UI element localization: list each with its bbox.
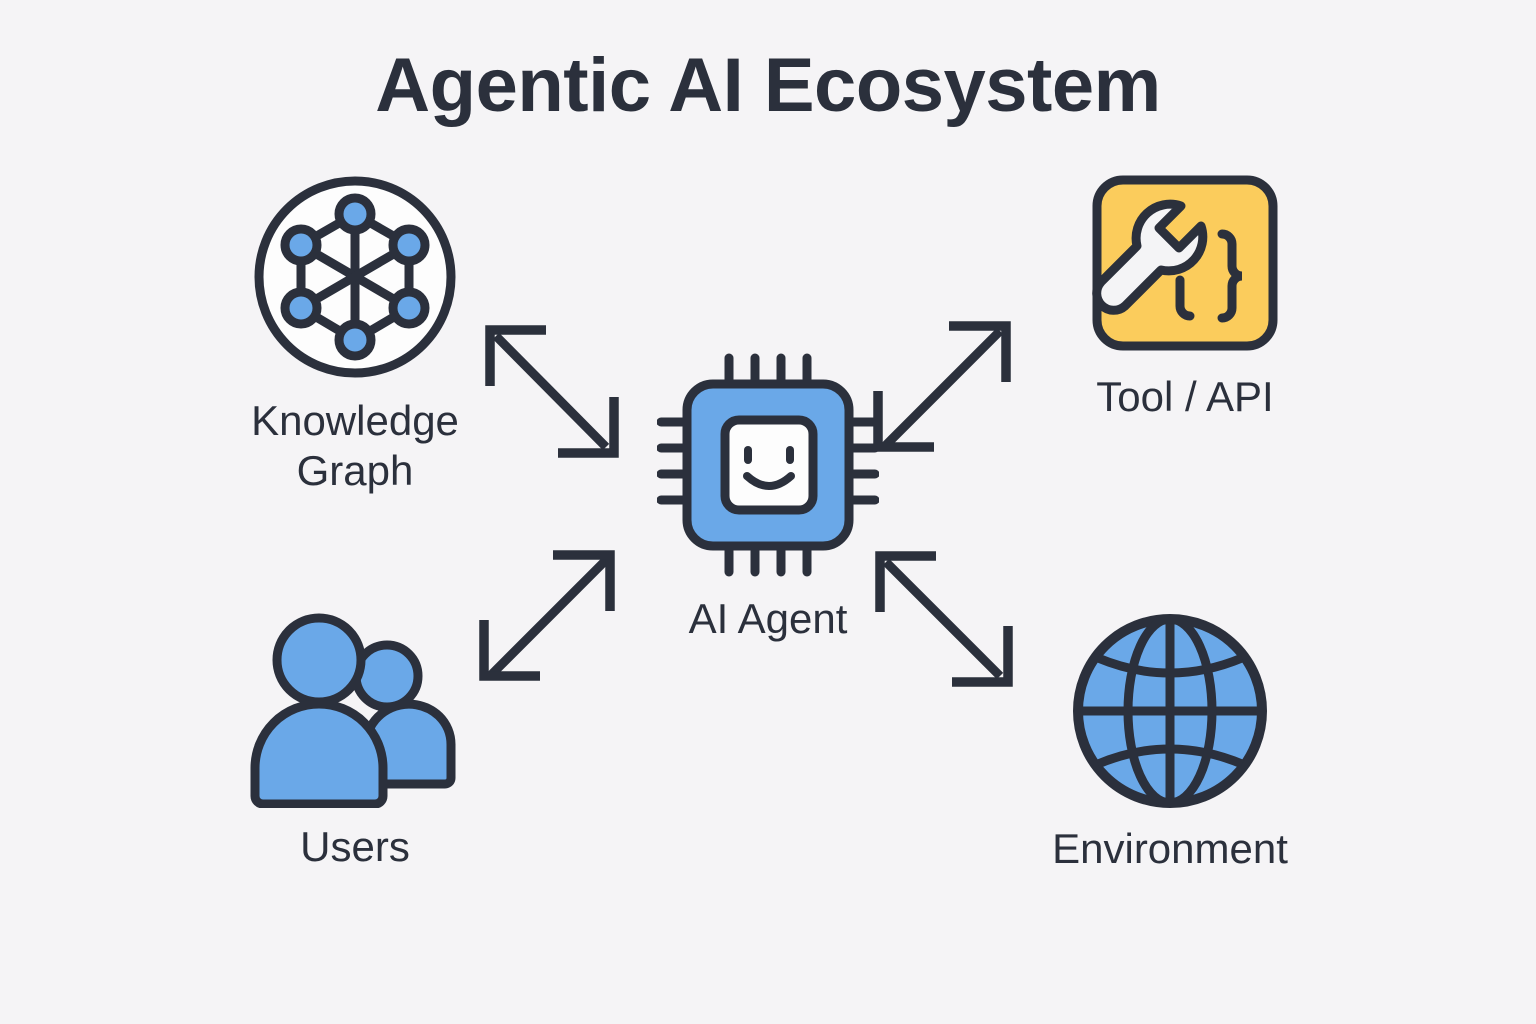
node-label-ai-agent: AI Agent — [689, 594, 848, 644]
node-label-users: Users — [300, 822, 410, 872]
node-ai-agent[interactable]: AI Agent — [590, 352, 946, 644]
node-label-knowledge-graph: Knowledge Graph — [251, 396, 459, 495]
diagram-canvas: Agentic AI Ecosystem — [0, 0, 1536, 1024]
node-tool-api[interactable]: Tool / API — [1015, 172, 1355, 422]
cpu-chip-smiley-icon — [657, 352, 879, 578]
page-title: Agentic AI Ecosystem — [0, 46, 1536, 126]
node-label-tool-api: Tool / API — [1096, 372, 1273, 422]
globe-icon — [1071, 612, 1269, 810]
node-knowledge-graph[interactable]: Knowledge Graph — [185, 172, 525, 495]
wrench-braces-icon — [1087, 172, 1283, 358]
knowledge-graph-icon — [250, 172, 460, 382]
node-label-environment: Environment — [1052, 824, 1288, 874]
node-environment[interactable]: Environment — [1000, 612, 1340, 874]
node-users[interactable]: Users — [185, 612, 525, 872]
users-icon — [247, 612, 463, 808]
